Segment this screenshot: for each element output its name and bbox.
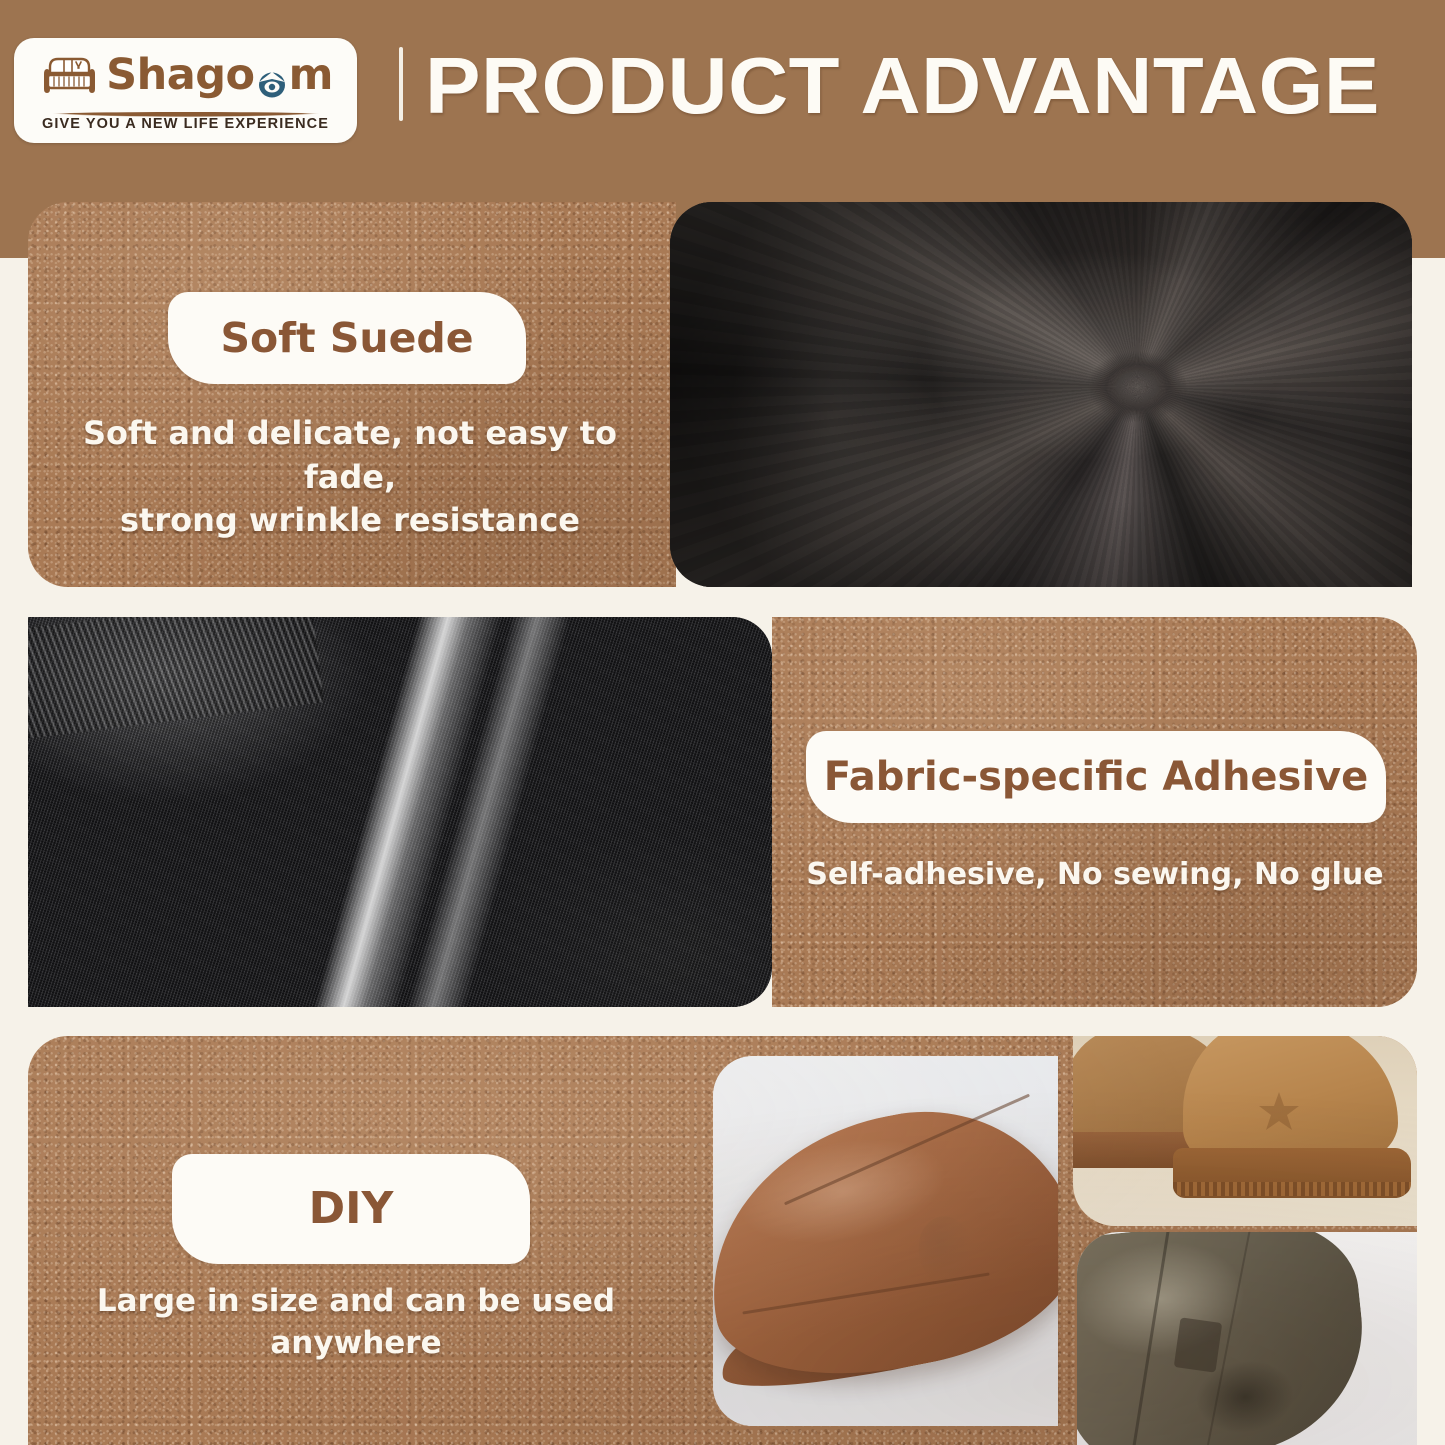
feature-subtitle-adhesive: Self-adhesive, No sewing, No glue: [788, 855, 1402, 896]
boot-tread: [1173, 1182, 1411, 1196]
black-suede-fabric-swirl-photo: [670, 202, 1412, 587]
black-adhesive-backing-closeup-photo: [28, 617, 772, 1007]
feature-title-pill-soft-suede: Soft Suede: [168, 292, 526, 384]
logo-brand-tail: m: [289, 54, 333, 97]
velvet-vignette: [670, 202, 1412, 587]
feature-subtitle-diy: Large in size and can be used anywhere: [36, 1280, 676, 1364]
jacket-pocket-patch: [1174, 1317, 1223, 1372]
sofa-icon: [38, 51, 100, 99]
feature-subtitle-line-1: Large in size and can be used anywhere: [36, 1280, 676, 1364]
logo-tagline: GIVE YOU A NEW LIFE EXPERIENCE: [14, 116, 357, 132]
olive-suede-jacket-photo: [1077, 1232, 1417, 1445]
feature-subtitle-line-1: Soft and delicate, not easy to fade,: [40, 412, 660, 499]
feature-subtitle-line-2: strong wrinkle resistance: [40, 499, 660, 543]
header-divider: [399, 47, 403, 121]
brand-logo: Shago m GIVE YOU A NEW LIFE EXPERIENCE: [14, 38, 357, 143]
boot-star-emboss-icon: [1257, 1090, 1301, 1132]
feature-title-soft-suede: Soft Suede: [220, 318, 473, 359]
feature-title-diy: DIY: [309, 1187, 394, 1231]
feature-title-pill-adhesive: Fabric-specific Adhesive: [806, 731, 1386, 823]
feature-title-pill-diy: DIY: [172, 1154, 530, 1264]
logo-letter-o: o: [226, 54, 255, 97]
page-title: PRODUCT ADVANTAGE: [425, 38, 1380, 133]
jacket-shading: [1193, 1356, 1298, 1439]
logo-brand-text: Shag: [106, 54, 225, 97]
eye-logo-icon: [256, 64, 288, 94]
brown-flat-cap-photo: [713, 1056, 1058, 1426]
feature-subtitle-line-1: Self-adhesive, No sewing, No glue: [788, 855, 1402, 896]
logo-lockup: Shago m: [14, 44, 357, 106]
infographic-page: Shago m GIVE YOU A NEW LIFE EXPERIENCE P…: [0, 0, 1445, 1445]
feature-subtitle-soft-suede: Soft and delicate, not easy to fade, str…: [40, 412, 660, 543]
brown-suede-boots-photo: [1073, 1036, 1417, 1226]
logo-wordmark: Shago m: [106, 54, 333, 97]
feature-title-adhesive: Fabric-specific Adhesive: [824, 757, 1369, 797]
